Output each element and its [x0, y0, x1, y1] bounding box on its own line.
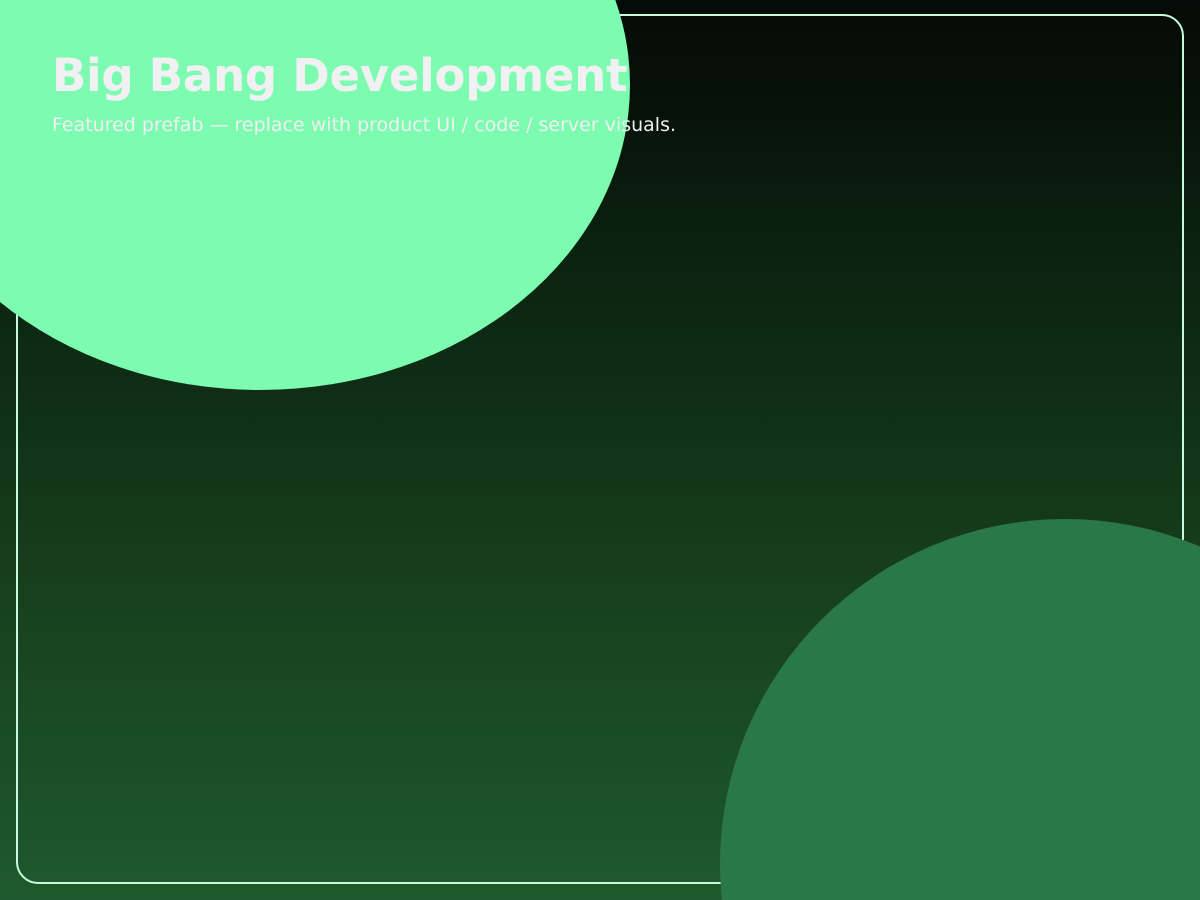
hero-text-block: Big Bang Development Featured prefab — r… [52, 52, 1052, 137]
green-circle-decoration [720, 519, 1200, 900]
page-title: Big Bang Development [52, 52, 1052, 101]
page-subtitle: Featured prefab — replace with product U… [52, 113, 1052, 138]
hero-slide: Big Bang Development Featured prefab — r… [0, 0, 1200, 900]
